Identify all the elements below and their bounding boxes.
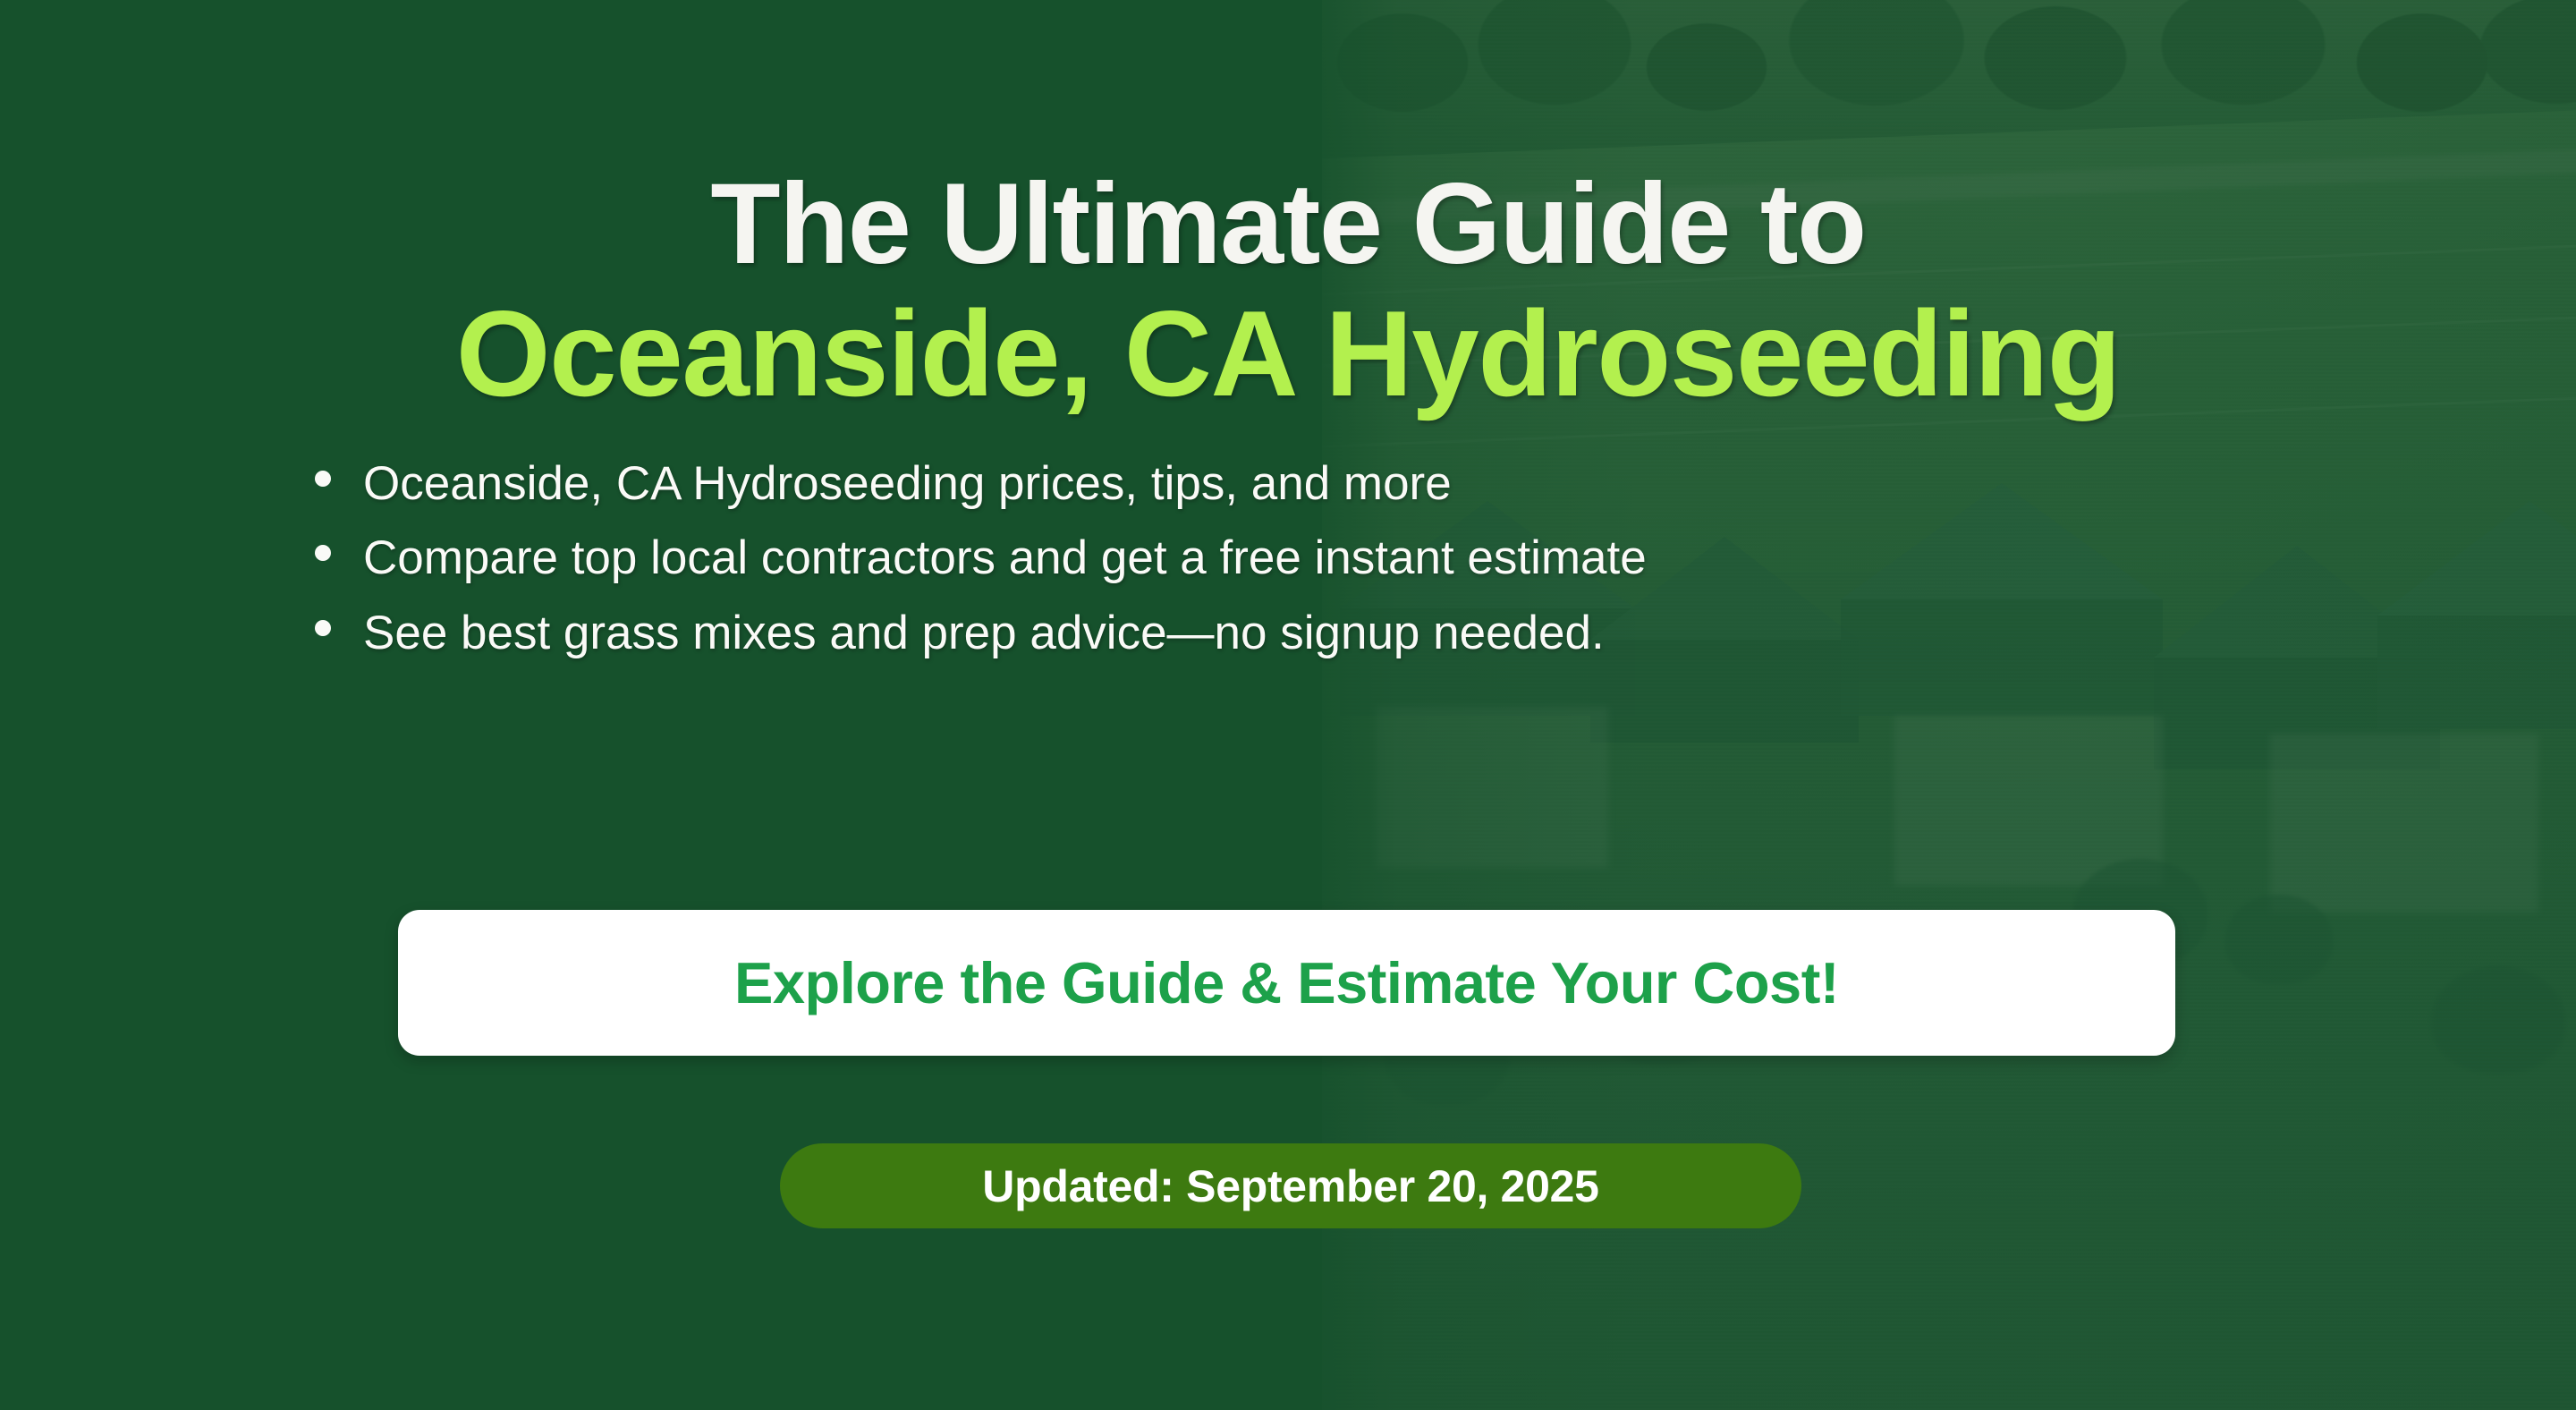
updated-badge-label: Updated: September 20, 2025 xyxy=(982,1160,1598,1212)
list-item: See best grass mixes and prep advice—no … xyxy=(315,607,1605,659)
headline-line-2: Oceanside, CA Hydroseeding xyxy=(0,289,2576,418)
list-item-label: Compare top local contractors and get a … xyxy=(363,531,1647,584)
list-item: Oceanside, CA Hydroseeding prices, tips,… xyxy=(315,457,1452,510)
hero-banner: The Ultimate Guide to Oceanside, CA Hydr… xyxy=(0,0,2576,1410)
bullet-dot-icon xyxy=(315,545,331,561)
updated-status-badge: Updated: September 20, 2025 xyxy=(780,1143,1801,1228)
hero-content: The Ultimate Guide to Oceanside, CA Hydr… xyxy=(0,0,2576,1410)
explore-guide-cta-button[interactable]: Explore the Guide & Estimate Your Cost! xyxy=(398,910,2175,1056)
headline-line-1: The Ultimate Guide to xyxy=(0,164,2576,285)
list-item-label: Oceanside, CA Hydroseeding prices, tips,… xyxy=(363,457,1452,510)
cta-button-label: Explore the Guide & Estimate Your Cost! xyxy=(734,949,1839,1016)
benefit-list: Oceanside, CA Hydroseeding prices, tips,… xyxy=(0,457,2576,681)
bullet-dot-icon xyxy=(315,471,331,487)
list-item: Compare top local contractors and get a … xyxy=(315,531,1647,584)
list-item-label: See best grass mixes and prep advice—no … xyxy=(363,607,1605,659)
bullet-dot-icon xyxy=(315,620,331,636)
page-title: The Ultimate Guide to Oceanside, CA Hydr… xyxy=(0,0,2576,418)
